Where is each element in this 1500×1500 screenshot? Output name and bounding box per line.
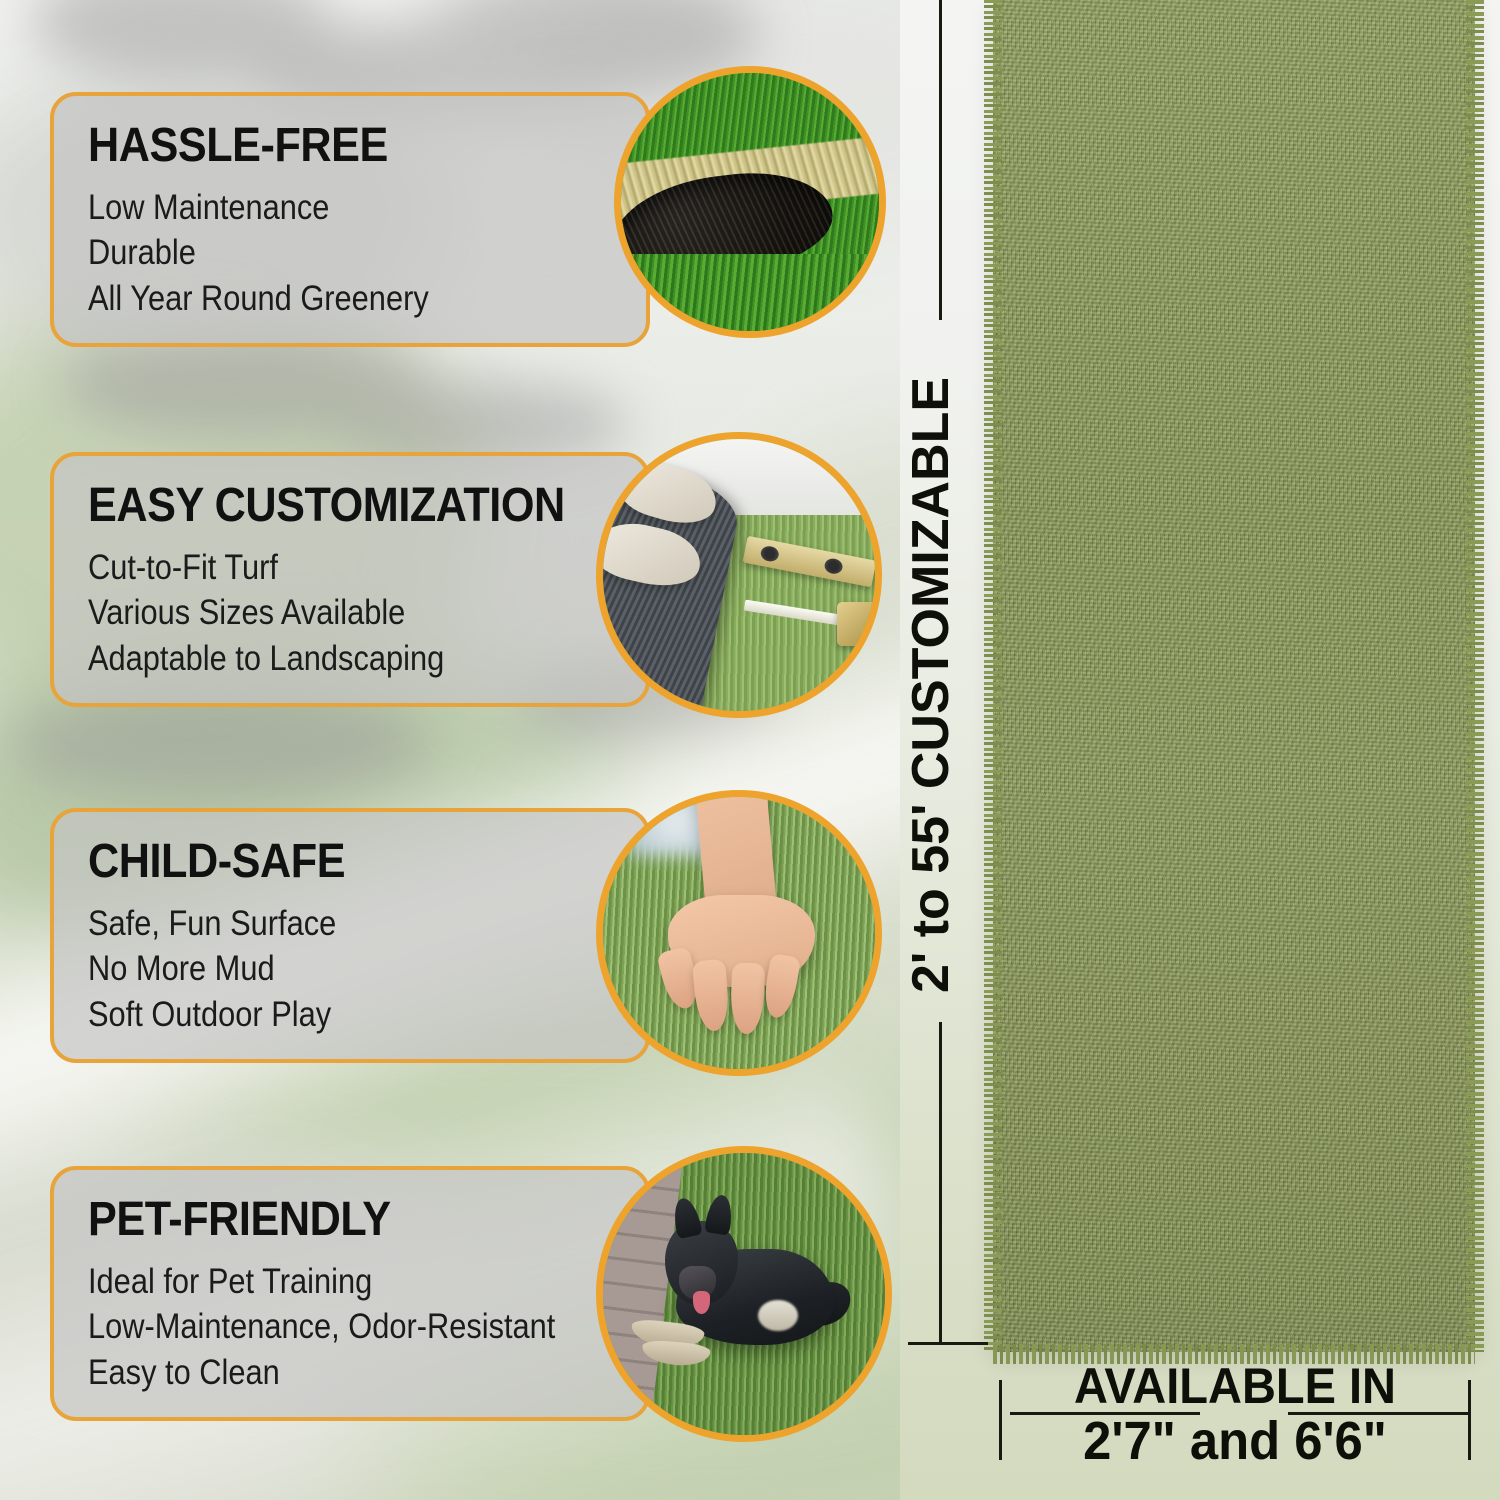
feature-card-line: Ideal for Pet Training <box>88 1259 549 1305</box>
feature-card-line: Adaptable to Landscaping <box>88 636 549 682</box>
feature-card-pet-friendly: PET-FRIENDLY Ideal for Pet Training Low-… <box>50 1166 650 1421</box>
feature-card-line: Various Sizes Available <box>88 590 549 636</box>
vertical-dimension-label-text: 2' to 55' CUSTOMIZABLE <box>901 377 961 993</box>
feature-photo-gloved-hands-rolling-turf <box>596 432 882 718</box>
vertical-dimension-end-cap <box>908 1342 988 1345</box>
feature-card-title: CHILD-SAFE <box>88 838 560 887</box>
feature-card-line: No More Mud <box>88 946 549 992</box>
feature-card-line: Easy to Clean <box>88 1350 549 1396</box>
feature-card-title: PET-FRIENDLY <box>88 1196 560 1245</box>
feature-card-line: Cut-to-Fit Turf <box>88 545 549 591</box>
feature-card-hassle-free: HASSLE-FREE Low Maintenance Durable All … <box>50 92 650 347</box>
feature-photo-dog-on-turf <box>596 1146 892 1442</box>
feature-card-child-safe: CHILD-SAFE Safe, Fun Surface No More Mud… <box>50 808 650 1063</box>
feature-card-line: Safe, Fun Surface <box>88 901 549 947</box>
available-sizes-text: 2'7" and 6'6" <box>1014 1415 1456 1468</box>
feature-card-line: Soft Outdoor Play <box>88 992 549 1038</box>
turf-roll-strip <box>993 0 1475 1352</box>
feature-card-easy-customization: EASY CUSTOMIZATION Cut-to-Fit Turf Vario… <box>50 452 650 707</box>
feature-photo-child-hand-on-turf <box>596 790 882 1076</box>
vertical-dimension-label: 2' to 55' CUSTOMIZABLE <box>896 355 966 1015</box>
available-in-text: AVAILABLE IN <box>1014 1362 1456 1411</box>
feature-card-line: Low Maintenance <box>88 185 549 231</box>
feature-card-title: EASY CUSTOMIZATION <box>88 482 560 531</box>
feature-card-line: Durable <box>88 230 549 276</box>
feature-card-line: All Year Round Greenery <box>88 276 549 322</box>
infographic-canvas: HASSLE-FREE Low Maintenance Durable All … <box>0 0 1500 1500</box>
feature-card-line: Low-Maintenance, Odor-Resistant <box>88 1304 549 1350</box>
vertical-dimension-line-upper <box>939 0 942 320</box>
feature-card-title: HASSLE-FREE <box>88 122 560 171</box>
vertical-dimension-line-lower <box>939 1022 942 1342</box>
feature-photo-turf-roll-backing <box>614 66 886 338</box>
horizontal-dimension-label: AVAILABLE IN 2'7" and 6'6" <box>1000 1362 1470 1468</box>
